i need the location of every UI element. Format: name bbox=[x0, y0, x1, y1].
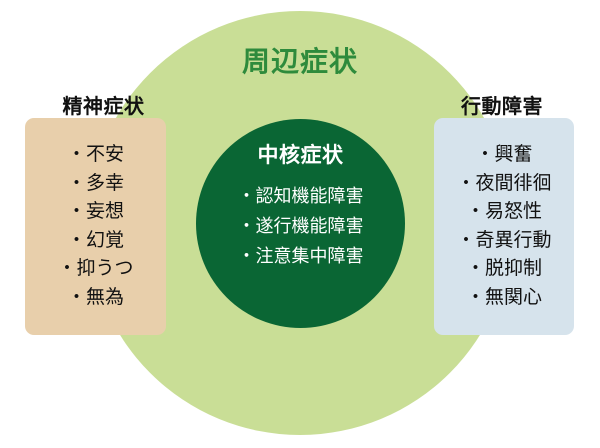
list-item: ・注意集中障害 bbox=[196, 242, 405, 272]
right-box-behavioral-disorders: 行動障害 ・興奮 ・夜間徘徊 ・易怒性 ・奇異行動 ・脱抑制 ・無関心 bbox=[434, 118, 574, 335]
right-box-list: ・興奮 ・夜間徘徊 ・易怒性 ・奇異行動 ・脱抑制 ・無関心 bbox=[434, 140, 574, 311]
list-item: ・無関心 bbox=[434, 283, 574, 312]
inner-circle-core-symptoms: 中核症状 ・認知機能障害 ・遂行機能障害 ・注意集中障害 bbox=[196, 119, 405, 328]
list-item: ・奇異行動 bbox=[434, 226, 574, 255]
right-box-title: 行動障害 bbox=[432, 96, 572, 116]
outer-circle-title: 周辺症状 bbox=[88, 48, 512, 76]
list-item: ・抑うつ bbox=[25, 254, 166, 283]
list-item: ・妄想 bbox=[25, 197, 166, 226]
list-item: ・夜間徘徊 bbox=[434, 169, 574, 198]
inner-circle-list: ・認知機能障害 ・遂行機能障害 ・注意集中障害 bbox=[196, 182, 405, 272]
left-box-title: 精神症状 bbox=[33, 96, 174, 116]
list-item: ・脱抑制 bbox=[434, 254, 574, 283]
left-box-psychiatric-symptoms: 精神症状 ・不安 ・多幸 ・妄想 ・幻覚 ・抑うつ ・無為 bbox=[25, 118, 166, 335]
left-box-list: ・不安 ・多幸 ・妄想 ・幻覚 ・抑うつ ・無為 bbox=[25, 140, 166, 311]
list-item: ・興奮 bbox=[434, 140, 574, 169]
list-item: ・幻覚 bbox=[25, 226, 166, 255]
diagram-canvas: 周辺症状 精神症状 ・不安 ・多幸 ・妄想 ・幻覚 ・抑うつ ・無為 行動障害 … bbox=[0, 0, 600, 448]
list-item: ・易怒性 bbox=[434, 197, 574, 226]
list-item: ・遂行機能障害 bbox=[196, 212, 405, 242]
list-item: ・無為 bbox=[25, 283, 166, 312]
list-item: ・不安 bbox=[25, 140, 166, 169]
inner-circle-title: 中核症状 bbox=[196, 145, 405, 166]
list-item: ・多幸 bbox=[25, 169, 166, 198]
list-item: ・認知機能障害 bbox=[196, 182, 405, 212]
